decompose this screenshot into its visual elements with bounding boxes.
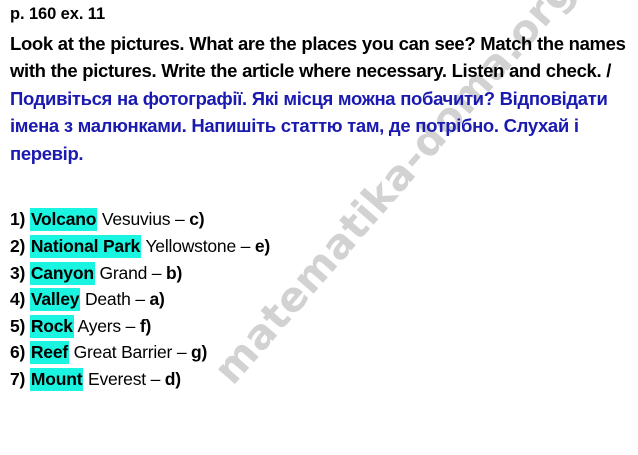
highlighted-term: Mount [30, 368, 83, 391]
item-dash: – [172, 342, 191, 362]
place-name: Death [80, 289, 130, 309]
highlighted-term: Valley [30, 288, 80, 311]
instructions-ukrainian: Подивіться на фотографії. Які місця можн… [10, 88, 607, 164]
document-content: p. 160 ex. 11 Look at the pictures. What… [6, 6, 634, 392]
list-item: 3) Canyon Grand – b) [10, 260, 634, 287]
place-name: Grand [95, 263, 147, 283]
list-item: 7) Mount Everest – d) [10, 366, 634, 393]
highlighted-term: Canyon [30, 262, 95, 285]
highlighted-term: Reef [30, 341, 69, 364]
item-number: 2) [10, 236, 25, 256]
place-name: Yellowstone [141, 236, 236, 256]
answer-key: b) [166, 263, 182, 283]
list-item: 2) National Park Yellowstone – e) [10, 233, 634, 260]
list-item: 4) Valley Death – a) [10, 286, 634, 313]
answer-key: f) [140, 316, 151, 336]
item-number: 5) [10, 316, 25, 336]
list-item: 5) Rock Ayers – f) [10, 313, 634, 340]
item-dash: – [121, 316, 140, 336]
highlighted-term: National Park [30, 235, 141, 258]
answer-key: e) [255, 236, 270, 256]
list-item: 1) Volcano Vesuvius – c) [10, 206, 634, 233]
instructions-paragraph: Look at the pictures. What are the place… [10, 30, 634, 168]
document-page: matematika-doma.org p. 160 ex. 11 Look a… [0, 0, 638, 455]
answer-key: d) [165, 369, 181, 389]
answer-key: g) [191, 342, 207, 362]
item-number: 1) [10, 209, 25, 229]
item-number: 3) [10, 263, 25, 283]
item-dash: – [131, 289, 150, 309]
place-name: Great Barrier [69, 342, 172, 362]
exercise-reference: p. 160 ex. 11 [10, 6, 634, 23]
answer-list: 1) Volcano Vesuvius – c) 2) National Par… [10, 206, 634, 392]
item-number: 4) [10, 289, 25, 309]
item-dash: – [146, 369, 165, 389]
place-name: Vesuvius [97, 209, 170, 229]
place-name: Everest [83, 369, 146, 389]
highlighted-term: Rock [30, 315, 74, 338]
item-number: 6) [10, 342, 25, 362]
place-name: Ayers [74, 316, 121, 336]
list-item: 6) Reef Great Barrier – g) [10, 339, 634, 366]
item-dash: – [236, 236, 255, 256]
item-dash: – [147, 263, 166, 283]
instructions-english: Look at the pictures. What are the place… [10, 33, 626, 82]
answer-key: a) [150, 289, 165, 309]
item-dash: – [170, 209, 189, 229]
highlighted-term: Volcano [30, 208, 97, 231]
item-number: 7) [10, 369, 25, 389]
answer-key: c) [189, 209, 204, 229]
